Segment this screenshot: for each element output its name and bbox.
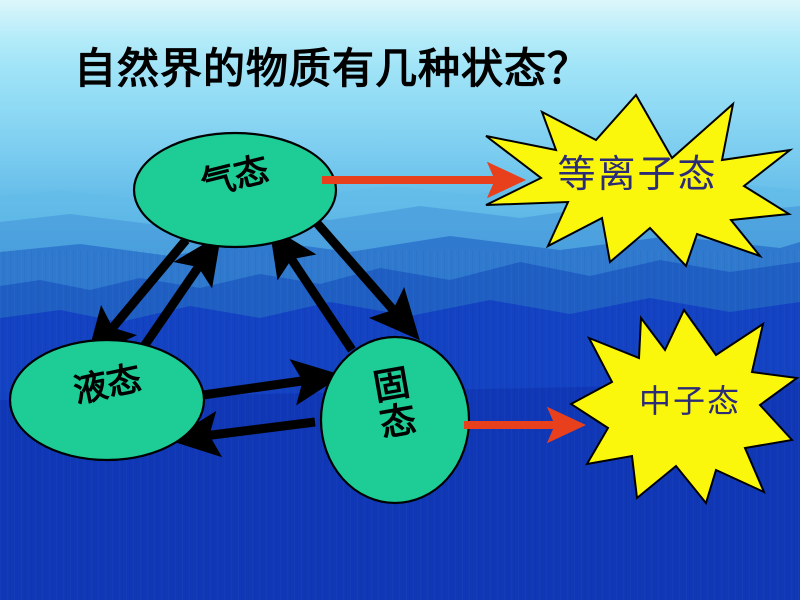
- arrow-liquid-to-solid: [196, 379, 316, 396]
- slide-canvas: 自然界的物质有几种状态？ 气态 液态 固 态 等离子态 中子态: [0, 0, 800, 600]
- arrow-gas-solid-group: [284, 222, 402, 350]
- star-label-plasma: 等离子态: [485, 155, 790, 193]
- arrow-liquid-to-gas: [138, 256, 206, 355]
- arrow-solid-to-liquid: [196, 422, 315, 437]
- arrow-liquid-solid-group: [196, 379, 316, 437]
- star-label-neutron: 中子态: [588, 385, 792, 417]
- arrow-gas-to-solid: [316, 222, 402, 320]
- arrow-gas-to-liquid: [104, 240, 186, 338]
- arrow-solid-to-gas: [284, 248, 352, 350]
- arrow-gas-liquid-group: [104, 240, 206, 355]
- page-title: 自然界的物质有几种状态？: [74, 48, 590, 90]
